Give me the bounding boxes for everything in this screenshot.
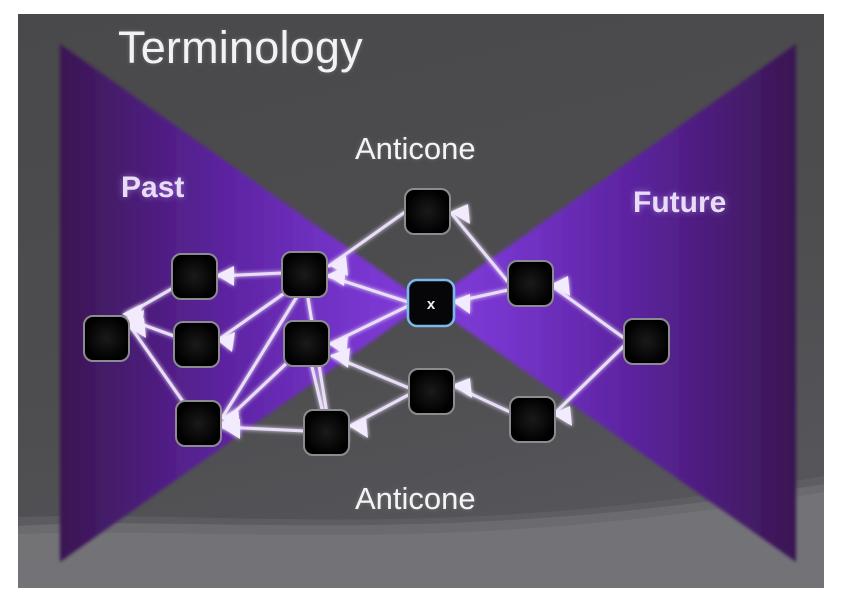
node-a-up-left[interactable] xyxy=(282,252,327,297)
node-f-far[interactable] xyxy=(624,319,669,364)
node-a-low[interactable] xyxy=(304,410,349,455)
node-p-low[interactable] xyxy=(176,401,221,446)
node-x-label: x xyxy=(427,296,436,313)
node-a-top[interactable] xyxy=(405,189,450,234)
slide-stage: x Terminology Past Future Anticone Antic… xyxy=(0,0,850,607)
node-p-up[interactable] xyxy=(172,254,217,299)
node-p-far[interactable] xyxy=(84,316,129,361)
node-a-bottom[interactable] xyxy=(409,369,454,414)
node-f-up[interactable] xyxy=(508,261,553,306)
node-p-mid[interactable] xyxy=(174,322,219,367)
dag-diagram-canvas: x xyxy=(18,14,824,588)
node-a-mid[interactable] xyxy=(284,321,329,366)
node-f-low[interactable] xyxy=(510,397,555,442)
presentation-slide: x Terminology Past Future Anticone Antic… xyxy=(18,14,824,588)
node-x-selected[interactable]: x xyxy=(408,280,454,326)
